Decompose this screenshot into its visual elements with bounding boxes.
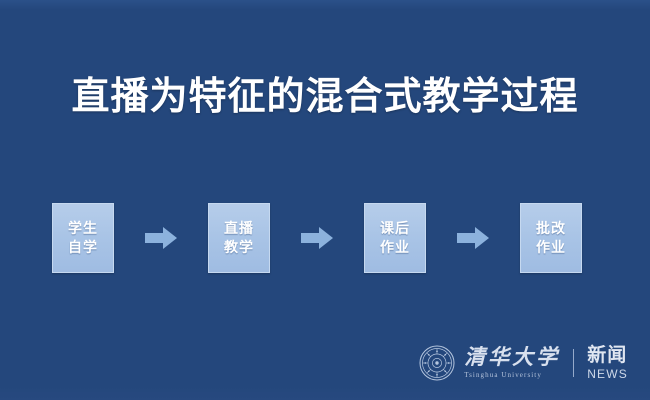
- top-sheen-band: [0, 0, 650, 10]
- tsinghua-seal-icon: [419, 345, 455, 381]
- bottom-sheen-band: [0, 386, 650, 400]
- news-wordmark: 新闻 NEWS: [587, 346, 628, 381]
- flow-step-1-line1: 学生: [68, 219, 98, 238]
- arrow-right-icon-2: [300, 225, 334, 251]
- news-label-cn: 新闻: [587, 346, 627, 366]
- slide-canvas: 直播为特征的混合式教学过程 学生 自学 直播 教学 课后 作业: [0, 0, 650, 400]
- university-name-cn: 清华大学: [464, 347, 560, 368]
- flow-step-2-line2: 教学: [224, 238, 254, 257]
- university-wordmark: 清华大学 Tsinghua University: [464, 347, 560, 379]
- slide-title: 直播为特征的混合式教学过程: [0, 74, 650, 120]
- flow-step-4-line2: 作业: [536, 238, 566, 257]
- flow-step-3-line1: 课后: [380, 219, 410, 238]
- university-name-en: Tsinghua University: [464, 372, 542, 379]
- arrow-right-icon-3: [456, 225, 490, 251]
- flow-step-3: 课后 作业: [364, 203, 426, 273]
- flow-step-1-line2: 自学: [68, 238, 98, 257]
- arrow-right-icon-1: [144, 225, 178, 251]
- logo-divider: [573, 349, 574, 377]
- logo-lockup: 清华大学 Tsinghua University 新闻 NEWS: [419, 340, 628, 386]
- flow-step-1: 学生 自学: [52, 203, 114, 273]
- flow-step-2: 直播 教学: [208, 203, 270, 273]
- process-flow-diagram: 学生 自学 直播 教学 课后 作业 批改 作业: [52, 200, 582, 276]
- flow-step-4-line1: 批改: [536, 219, 566, 238]
- news-label-en: NEWS: [587, 367, 628, 381]
- flow-step-4: 批改 作业: [520, 203, 582, 273]
- flow-step-2-line1: 直播: [224, 219, 254, 238]
- flow-step-3-line2: 作业: [380, 238, 410, 257]
